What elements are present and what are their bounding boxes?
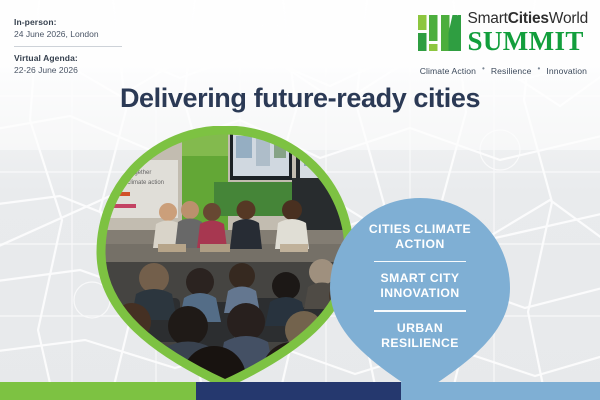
tagline-separator-2: • — [533, 64, 546, 73]
wordmark-cities: Cities — [508, 10, 549, 27]
tagline-separator-1: • — [477, 64, 490, 73]
in-person-label: In-person: — [14, 16, 134, 28]
logo-mark-icon — [417, 9, 461, 57]
wordmark-smart: Smart — [467, 10, 507, 27]
logo-summit-text: SUMMIT — [467, 27, 588, 55]
virtual-agenda-label: Virtual Agenda: — [14, 52, 134, 64]
topic-cities-climate-action: CITIES CLIMATE ACTION — [358, 222, 483, 252]
tagline-resilience-label: Resilience — [490, 66, 533, 76]
photo-pin: cities together print climate action — [96, 126, 354, 388]
tagline-innovation: Innovation — [545, 61, 588, 79]
topics-pin: CITIES CLIMATE ACTION SMART CITY INNOVAT… — [327, 196, 513, 396]
info-divider — [14, 46, 122, 47]
event-info-block: In-person: 24 June 2026, London Virtual … — [14, 16, 134, 77]
logo-tagline: Climate Action • Resilience • Innovation — [417, 61, 588, 79]
banner-root: In-person: 24 June 2026, London Virtual … — [0, 0, 600, 400]
topic-urban-resilience: URBAN RESILIENCE — [358, 321, 483, 351]
topic-divider-1 — [374, 261, 466, 263]
topic-smart-city-innovation: SMART CITY INNOVATION — [358, 271, 483, 301]
tagline-innovation-label: Innovation — [545, 66, 588, 76]
wordmark-world: World — [549, 10, 588, 27]
tagline-climate-action-label: Climate Action — [419, 66, 477, 76]
bottom-bar-green — [0, 382, 196, 400]
bottom-bar-navy — [196, 382, 401, 400]
virtual-agenda-value: 22-26 June 2026 — [14, 64, 134, 77]
tagline-resilience: Resilience — [490, 61, 533, 79]
page-headline: Delivering future-ready cities — [0, 83, 600, 114]
smart-cities-world-summit-logo[interactable]: SmartCitiesWorld SUMMIT Climate Action •… — [417, 9, 588, 79]
bottom-bar-blue — [401, 382, 600, 400]
logo-wordmark: SmartCitiesWorld — [467, 10, 588, 27]
topic-divider-2 — [374, 310, 466, 312]
in-person-value: 24 June 2026, London — [14, 28, 134, 41]
tagline-climate-action: Climate Action — [419, 61, 477, 79]
